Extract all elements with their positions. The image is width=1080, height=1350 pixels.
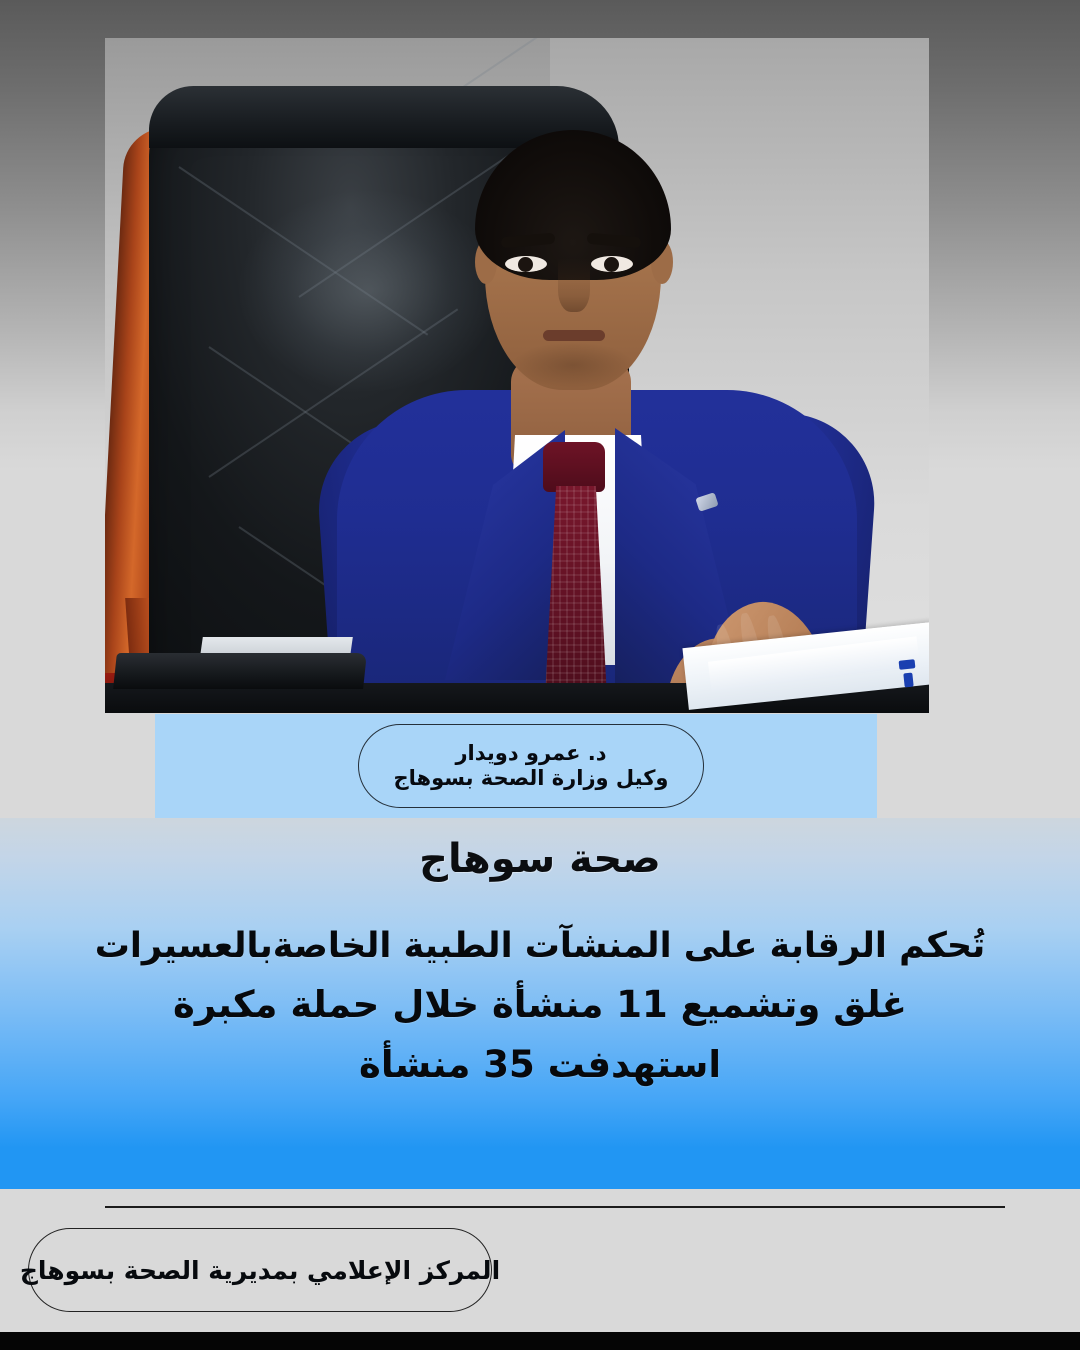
mouth — [543, 330, 605, 341]
nose — [558, 258, 590, 312]
eye-left — [505, 256, 547, 272]
chin-shadow — [511, 342, 635, 388]
headline-line-3: استهدفت 35 منشأة — [30, 1035, 1050, 1095]
media-center-credit-label: المركز الإعلامي بمديرية الصحة بسوهاج — [20, 1256, 500, 1285]
document-mark-secondary-icon — [903, 673, 913, 688]
necktie-knot — [543, 442, 605, 492]
official-name-badge: د. عمرو دويدار وكيل وزارة الصحة بسوهاج — [358, 724, 704, 808]
headline-text: تُحكم الرقابة على المنشآت الطبية الخاصةب… — [30, 918, 1050, 1095]
eye-right — [591, 256, 633, 272]
footer-divider — [105, 1206, 1005, 1208]
document-mark-icon — [899, 659, 916, 670]
bottom-black-bar — [0, 1332, 1080, 1350]
official-portrait-photo — [105, 38, 929, 713]
laptop-base — [113, 653, 367, 689]
headline-line-1: تُحكم الرقابة على المنشآت الطبية الخاصةب… — [30, 918, 1050, 975]
media-center-credit-badge: المركز الإعلامي بمديرية الصحة بسوهاج — [28, 1228, 492, 1312]
person-figure — [315, 90, 875, 713]
official-name: د. عمرو دويدار — [455, 741, 606, 766]
poster-canvas: د. عمرو دويدار وكيل وزارة الصحة بسوهاج ص… — [0, 0, 1080, 1350]
page-title: صحة سوهاج — [0, 836, 1080, 882]
headline-line-2: غلق وتشميع 11 منشأة خلال حملة مكبرة — [30, 975, 1050, 1035]
official-title: وكيل وزارة الصحة بسوهاج — [394, 766, 669, 791]
